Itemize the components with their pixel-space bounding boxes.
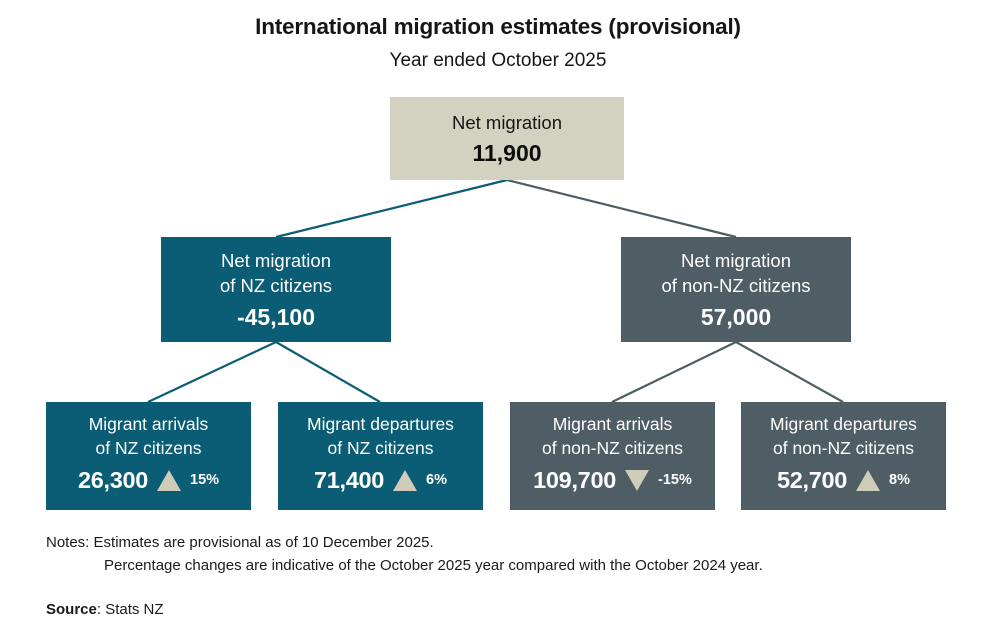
node-label-line1: Net migration	[681, 248, 791, 273]
triangle-down-icon	[625, 470, 649, 491]
node-label-line1: Net migration	[452, 110, 562, 135]
notes-block: Notes: Estimates are provisional as of 1…	[46, 531, 763, 577]
triangle-up-icon	[393, 470, 417, 491]
edge-nz-to-arrivals	[148, 342, 276, 402]
node-label-line1: Net migration	[221, 248, 331, 273]
triangle-up-icon	[157, 470, 181, 491]
triangle-up-icon	[856, 470, 880, 491]
node-migrant-departures-non-nz-citizens: Migrant departures of non-NZ citizens 52…	[741, 402, 946, 510]
node-label-line1: Migrant departures	[307, 412, 454, 436]
edge-root-to-nz	[276, 180, 507, 237]
source-line: Source: Stats NZ	[46, 601, 164, 618]
node-metric-row: 109,700 -15%	[510, 465, 715, 495]
node-percent-change: 8%	[889, 472, 910, 488]
node-migrant-arrivals-nz-citizens: Migrant arrivals of NZ citizens 26,300 1…	[46, 402, 251, 510]
page-title: International migration estimates (provi…	[0, 14, 996, 40]
node-label-line1: Migrant departures	[770, 412, 917, 436]
edge-nonnz-to-departures	[736, 342, 843, 402]
node-migrant-arrivals-non-nz-citizens: Migrant arrivals of non-NZ citizens 109,…	[510, 402, 715, 510]
page-subtitle: Year ended October 2025	[0, 50, 996, 72]
node-percent-change: -15%	[658, 472, 692, 488]
source-value: : Stats NZ	[97, 601, 164, 618]
node-value: 71,400	[314, 465, 384, 495]
node-label-line2: of non-NZ citizens	[542, 436, 683, 460]
node-net-migration-non-nz-citizens: Net migration of non-NZ citizens 57,000	[621, 237, 851, 342]
node-value: 109,700	[533, 465, 616, 495]
node-label-line2: of NZ citizens	[220, 273, 332, 298]
node-metric-row: 52,700 8%	[741, 465, 946, 495]
node-label-line2: of NZ citizens	[328, 436, 434, 460]
edge-nonnz-to-arrivals	[612, 342, 736, 402]
node-label-line2: of non-NZ citizens	[661, 273, 810, 298]
notes-line-2: Percentage changes are indicative of the…	[46, 554, 763, 577]
node-label-line1: Migrant arrivals	[89, 412, 209, 436]
node-label-line2: of non-NZ citizens	[773, 436, 914, 460]
node-value: -45,100	[237, 302, 315, 332]
infographic-canvas: International migration estimates (provi…	[0, 0, 996, 630]
notes-line-1: Notes: Estimates are provisional as of 1…	[46, 531, 763, 554]
node-metric-row: 71,400 6%	[278, 465, 483, 495]
node-percent-change: 15%	[190, 472, 219, 488]
node-percent-change: 6%	[426, 472, 447, 488]
node-value: 26,300	[78, 465, 148, 495]
node-net-migration-total: Net migration 11,900	[390, 97, 624, 180]
edge-root-to-nonnz	[507, 180, 736, 237]
node-value: 52,700	[777, 465, 847, 495]
node-net-migration-nz-citizens: Net migration of NZ citizens -45,100	[161, 237, 391, 342]
node-value: 57,000	[701, 302, 771, 332]
source-label: Source	[46, 601, 97, 618]
node-migrant-departures-nz-citizens: Migrant departures of NZ citizens 71,400…	[278, 402, 483, 510]
edge-nz-to-departures	[276, 342, 380, 402]
node-label-line2: of NZ citizens	[96, 436, 202, 460]
node-metric-row: 26,300 15%	[46, 465, 251, 495]
node-label-line1: Migrant arrivals	[553, 412, 673, 436]
node-value: 11,900	[472, 138, 541, 168]
